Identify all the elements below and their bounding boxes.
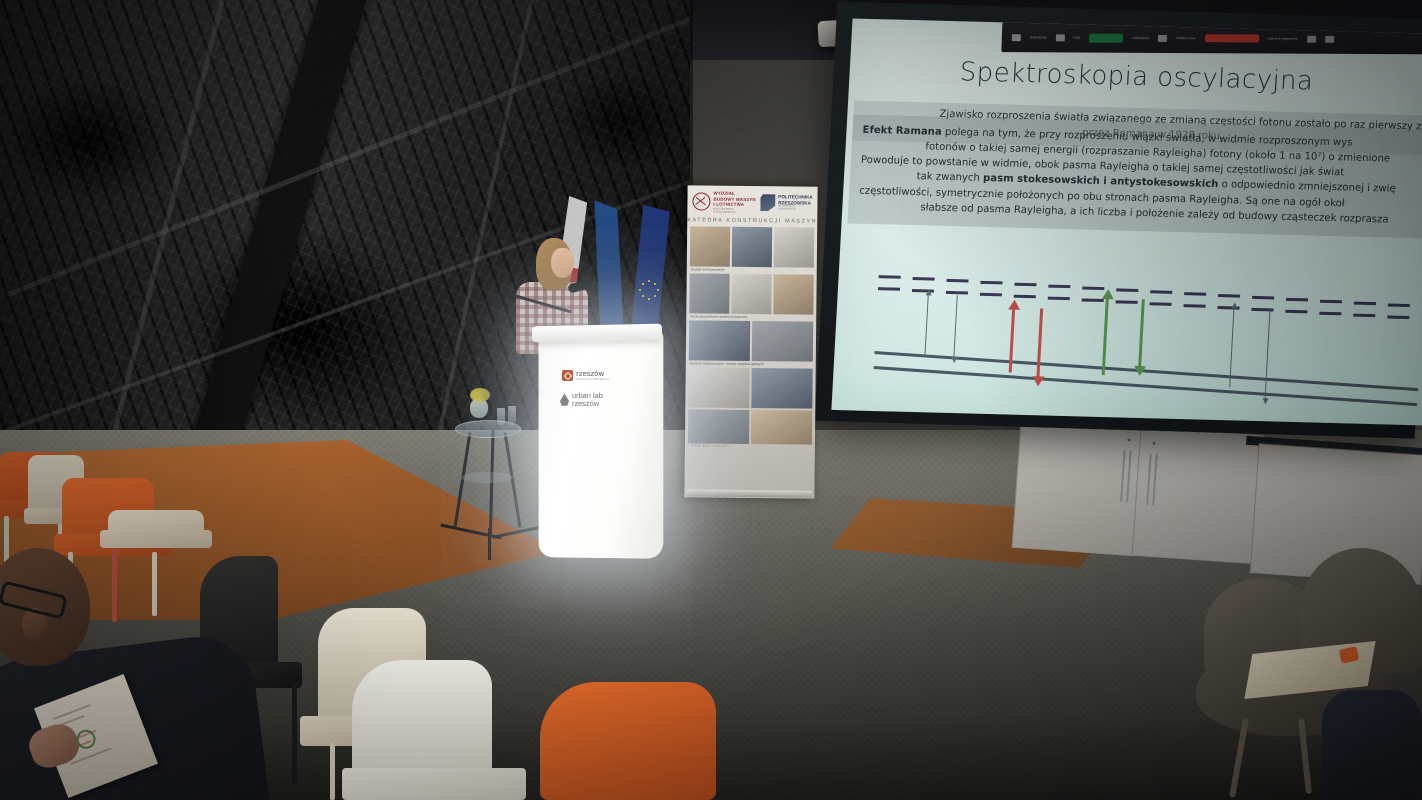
eu-stars <box>639 280 659 300</box>
virtual-level-dash <box>1354 302 1376 306</box>
banner-photo-row <box>685 407 815 444</box>
virtual-level-dash <box>1014 283 1036 287</box>
virtual-level-dash <box>1048 285 1070 289</box>
chair-seat <box>342 768 526 800</box>
podium-logo1-text: rzeszów STOLICA INNOWACJI <box>576 371 609 381</box>
conference-room-scene: Uczestnicy Czat Udostępnij Podnieś rękę … <box>0 0 1422 800</box>
antistokes-arrow-down-head <box>1133 366 1146 376</box>
virtual-level-dash <box>1150 302 1172 306</box>
podium-logo-rzeszow: rzeszów STOLICA INNOWACJI <box>562 370 609 381</box>
rayleigh-arrow-up <box>924 292 929 356</box>
virtual-level-dash <box>1048 297 1070 301</box>
rzeszow-mark-icon <box>562 370 573 381</box>
virtual-level-dash <box>878 287 900 291</box>
stokes-arrow-down <box>1036 308 1043 378</box>
camera-icon[interactable] <box>1307 35 1316 42</box>
virtual-level-dash <box>1387 315 1409 319</box>
cabinet-handle[interactable] <box>1126 451 1132 503</box>
faculty-name: WYDZIAŁ BUDOWY MASZYN I LOTNICTWA POLITE… <box>713 191 757 214</box>
banner-header: WYDZIAŁ BUDOWY MASZYN I LOTNICTWA POLITE… <box>687 185 817 216</box>
banner-photo <box>751 410 813 445</box>
virtual-level-dash <box>1353 314 1375 318</box>
banner-photo <box>773 274 814 314</box>
virtual-level-dash <box>1285 310 1307 314</box>
banner-photo <box>731 274 772 314</box>
cabinet-handle[interactable] <box>1152 454 1158 506</box>
leave-button-label: Zakończ połączenie <box>1268 37 1298 41</box>
share-button-label: Udostępnij <box>1132 36 1148 40</box>
armchair-foreground <box>1322 690 1422 800</box>
antistokes-arrow-down <box>1138 299 1145 368</box>
vc-item-label: Uczestnicy <box>1030 35 1047 39</box>
virtual-level-dash <box>1252 296 1274 300</box>
slide-body-bold: Efekt Ramana <box>862 125 942 138</box>
podium-top-surface <box>532 324 662 343</box>
podium-logo-urbanlab: urban lab rzeszów <box>560 392 603 408</box>
virtual-level-dash <box>1286 298 1308 302</box>
rollup-banner: WYDZIAŁ BUDOWY MASZYN I LOTNICTWA POLITE… <box>684 185 817 498</box>
virtual-level-dash <box>1320 300 1342 304</box>
urbanlab-drop-icon <box>560 393 569 406</box>
participants-icon[interactable] <box>1012 34 1021 41</box>
virtual-level-dash <box>1116 288 1138 292</box>
banner-photo <box>690 226 731 266</box>
raise-hand-icon[interactable] <box>1158 34 1167 41</box>
virtual-level-dash <box>1184 292 1206 296</box>
banner-photo <box>689 320 751 361</box>
vc-item-label: Podnieś rękę <box>1176 36 1196 40</box>
slide-body-prefix: tak zwanych <box>916 172 983 185</box>
speaker-face <box>551 248 574 278</box>
stokes-arrow-down-head <box>1031 376 1044 386</box>
chair-leg <box>112 548 117 622</box>
podium-logo2-line2: rzeszów <box>572 400 603 408</box>
virtual-level-dash <box>946 279 968 283</box>
virtual-level-dash <box>980 281 1002 285</box>
banner-photo-row <box>686 320 816 361</box>
virtual-level-dash <box>946 291 968 295</box>
cabinet-handle[interactable] <box>1146 454 1152 506</box>
banner-photo <box>751 368 813 409</box>
virtual-level-dash <box>1014 295 1036 299</box>
drinking-glass <box>508 406 516 425</box>
vc-item-label: Czat <box>1073 35 1080 39</box>
virtual-level-dash <box>1116 300 1138 304</box>
antistokes-arrow-up <box>1102 297 1109 375</box>
banner-photo <box>689 273 730 313</box>
chair-backrest <box>540 682 716 800</box>
faculty-logo-icon <box>692 193 710 211</box>
virtual-level-dash <box>1183 304 1205 308</box>
chair-backrest <box>108 510 204 532</box>
banner-photo-row <box>687 226 817 267</box>
chair-leg <box>292 684 297 784</box>
virtual-level-dash <box>980 293 1002 297</box>
virtual-level-dash <box>913 277 935 281</box>
chat-icon[interactable] <box>1055 34 1064 41</box>
ir-arrow-down-head <box>1262 398 1268 404</box>
banner-base <box>686 489 812 497</box>
antistokes-arrow-up-head <box>1101 289 1114 299</box>
cabinet-door-left[interactable] <box>1012 418 1143 556</box>
university-sub: IM. IGNACEGO ŁUKASIEWICZA <box>778 205 813 211</box>
stokes-arrow-up-head <box>1008 300 1021 310</box>
virtual-level-dash <box>879 275 901 279</box>
rayleigh-arrow-down <box>953 295 958 359</box>
rayleigh-arrow-down-head <box>951 357 957 363</box>
leave-call-button[interactable] <box>1205 34 1259 42</box>
side-table-shelf <box>461 472 513 483</box>
virtual-level-dash <box>1150 290 1172 294</box>
university-logo-icon <box>760 194 775 211</box>
share-screen-button[interactable] <box>1089 33 1123 42</box>
podium-logo1-sub: STOLICA INNOWACJI <box>576 378 609 381</box>
chair-seat <box>100 530 212 548</box>
ir-arrow-down <box>1265 308 1271 400</box>
banner-photo <box>688 409 750 444</box>
rayleigh-arrow-up-head <box>925 289 931 295</box>
illuminated-podium <box>539 329 664 559</box>
chair-backrest <box>352 660 492 778</box>
virtual-level-dash <box>1082 298 1104 302</box>
virtual-level-dash <box>1388 303 1410 307</box>
energy-level-diagram <box>872 271 1422 405</box>
drinking-glass <box>497 408 505 425</box>
banner-photo <box>688 367 750 408</box>
cabinet-handle[interactable] <box>1120 450 1126 502</box>
projected-slide: Uczestnicy Czat Udostępnij Podnieś rękę … <box>831 18 1422 425</box>
cabinet-door-right[interactable] <box>1132 426 1265 564</box>
university-name: POLITECHNIKA RZESZOWSKA IM. IGNACEGO ŁUK… <box>778 194 813 211</box>
faculty-sub: POLITECHNIKI RZESZOWSKIEJ <box>713 207 757 214</box>
cabinet-lock <box>1152 442 1155 445</box>
banner-photo <box>732 227 773 267</box>
flower-bouquet <box>470 388 490 402</box>
podium-logo2-text: urban lab rzeszów <box>572 392 603 408</box>
slide-title: Spektroskopia oscylacyjna <box>959 57 1314 96</box>
virtual-level-dash <box>1319 312 1341 316</box>
banner-photo <box>752 321 814 362</box>
banner-photo-row <box>686 273 816 314</box>
microphone-stand-leg <box>488 528 491 560</box>
banner-photo-row <box>685 367 815 408</box>
chair-leg <box>152 552 157 616</box>
chair-leg <box>330 742 335 800</box>
banner-photo <box>773 227 814 267</box>
microphone-icon[interactable] <box>1325 35 1334 42</box>
ir-arrow-up-head <box>1231 302 1237 308</box>
cabinet-lock <box>1127 438 1130 441</box>
virtual-level-dash <box>1218 294 1240 298</box>
slide-body-box: Efekt Ramana polega na tym, że przy rozp… <box>848 114 1422 239</box>
